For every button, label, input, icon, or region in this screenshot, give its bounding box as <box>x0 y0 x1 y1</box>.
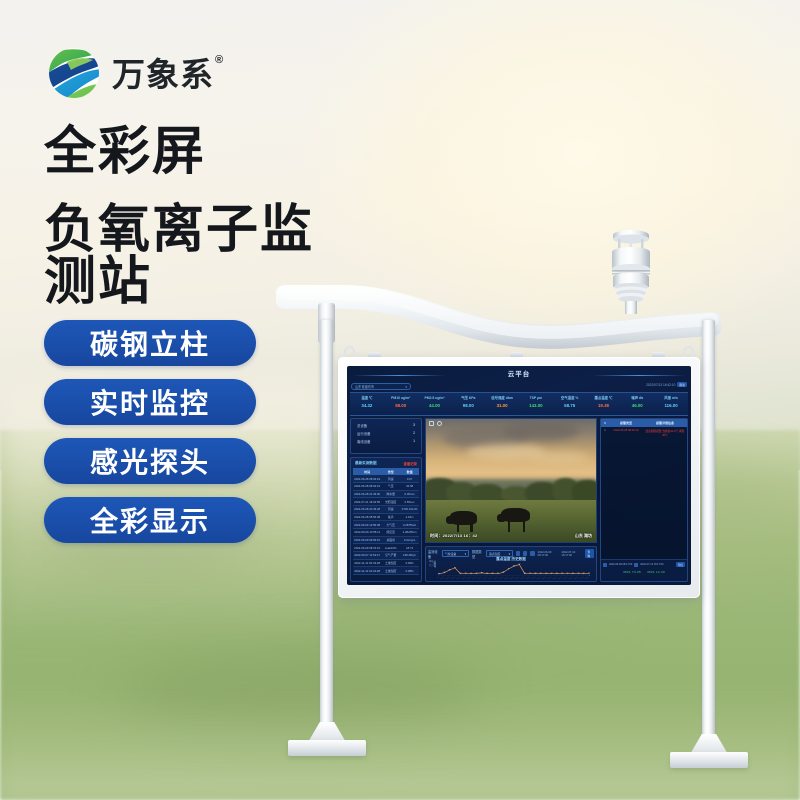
metric-7: 露点温度 ℃19.38 <box>587 393 621 415</box>
table-column-headers: 时间类型数值 <box>353 468 419 475</box>
alarm-date-from[interactable]: 2022-06-09 08:17:00 <box>609 563 632 566</box>
feature-pill-2[interactable]: 感光探头 <box>44 438 256 484</box>
metric-2: PM2.5 ug/m³44.00 <box>418 393 452 415</box>
table-cell: 2.18m <box>400 514 419 521</box>
table-cell: 能见度 <box>381 529 400 536</box>
metric-label: 信号强度 dbm <box>485 396 519 400</box>
svg-text:06-30 13:17: 06-30 13:17 <box>547 576 553 579</box>
alarm-column-headers: #报警类型报警详细信息 <box>601 419 687 427</box>
metric-1: PM10 ug/m³58.00 <box>384 393 418 415</box>
metric-label: 风速 m/s <box>654 396 688 400</box>
metric-value: 143.00 <box>519 404 553 408</box>
chart-export-icon[interactable] <box>530 551 534 556</box>
metric-label: 噪声 db <box>620 396 654 400</box>
base-plate-right <box>670 734 748 768</box>
metric-label: 露点温度 ℃ <box>587 396 621 400</box>
registered-mark: ® <box>215 54 224 66</box>
station-select-value: 山东省潍坊市 <box>355 384 374 389</box>
table-title: 最新实测数据 <box>355 461 377 466</box>
table-cell: 降水量 <box>381 491 400 498</box>
table-row[interactable]: 2022-06-09 13:55:11能见度1.28x65nm <box>353 529 419 537</box>
svg-text:06-17 16:17: 06-17 16:17 <box>477 576 483 579</box>
svg-text:06-20 19:17: 06-20 19:17 <box>493 576 499 579</box>
screen-header: 云平台 <box>347 366 691 383</box>
device-stat-0: 总设备3 <box>357 423 415 428</box>
table-cell: 2022-06-28 21:46:00 <box>353 491 381 498</box>
metric-label: PM10 ug/m³ <box>384 396 418 400</box>
table-cell: 总辐射 <box>381 537 400 544</box>
metric-9: 风速 m/s116.00 <box>654 393 688 415</box>
brand-name-text: 万象系 <box>112 56 214 93</box>
table-cell: 风速 <box>381 506 400 513</box>
alarm-row[interactable]: 12022-06-28 08:03:19温度超限报警 当前值43.2℃ 阈值40… <box>601 427 687 437</box>
chart-plot-area: 单位(℃) 01020304050607080 12.206-09 08:171… <box>428 563 594 579</box>
table-cell: 2022-06-28 20:45:28 <box>353 506 381 513</box>
stat-value: 2 <box>413 431 415 436</box>
calendar-icon <box>603 563 607 567</box>
alarm-list[interactable]: 12022-06-28 08:03:19温度超限报警 当前值43.2℃ 阈值40… <box>601 427 687 559</box>
datatype-filter-value: 露点温度 <box>489 552 500 556</box>
metric-value: 19.38 <box>587 404 621 408</box>
svg-text:06-15 14:17: 06-15 14:17 <box>466 576 472 579</box>
table-cell: 2022-06-07 11:54:47 <box>353 552 381 559</box>
feature-pill-1[interactable]: 实时监控 <box>44 379 256 425</box>
device-stat-1: 运行设备2 <box>357 431 415 436</box>
metric-value: 44.00 <box>418 404 452 408</box>
metric-label: 气压 KPa <box>451 396 485 400</box>
svg-text:06-12 11:17: 06-12 11:17 <box>450 576 456 579</box>
snapshot-icon[interactable] <box>437 421 442 426</box>
metric-value: 46.00 <box>620 404 654 408</box>
table-row[interactable]: 2022-06-28 08:03:19气压32.58 <box>353 483 419 491</box>
pole-right <box>702 320 715 744</box>
table-cell: 0.36mm <box>400 491 419 498</box>
metrics-strip: 温度 ℃34.32PM10 ug/m³58.00PM2.5 ug/m³44.00… <box>350 392 688 416</box>
table-cell: 0.97 <box>400 475 419 482</box>
table-cell: 2022-06-28 08:56:38 <box>353 514 381 521</box>
alarm-col-1: 报警类型 <box>609 419 643 427</box>
alarm-stat: 4531 74.35 <box>623 570 641 574</box>
stat-label: 离线设备 <box>357 439 371 444</box>
center-column: 时间：2022/7/13 16：42 山东 潍坊 监测设备 气象设备 ▾ 数据类… <box>425 418 597 582</box>
svg-text:06-23 22:17: 06-23 22:17 <box>509 576 515 579</box>
table-row[interactable]: 2022-11-13 02:33:28土壤温度0.09% <box>353 560 419 568</box>
video-controls[interactable] <box>429 421 442 426</box>
feature-pill-0[interactable]: 碳钢立柱 <box>44 320 256 366</box>
table-cell: 空气产量 <box>381 552 400 559</box>
device-stats-panel: 总设备3运行设备2离线设备1 <box>350 418 422 454</box>
station-select[interactable]: 山东省潍坊市 ▾ <box>351 383 411 390</box>
chart-y-axis: 单位(℃) 01020304050607080 <box>428 563 437 569</box>
table-row[interactable]: 2022-06-09 13:56:38大气压0.2875Gx² <box>353 521 419 529</box>
clock-text: 2022/07/13 16:42:10 <box>646 383 675 387</box>
metric-label: 空气湿度 % <box>553 396 587 400</box>
metric-value: 58.00 <box>384 404 418 408</box>
svg-text:13.3: 13.3 <box>588 572 591 573</box>
svg-text:06-25 08:17: 06-25 08:17 <box>520 576 526 579</box>
table-row[interactable]: 2022-06-09 09:53:15总辐射0.4mcg/L <box>353 537 419 545</box>
table-col-0: 时间 <box>353 468 381 475</box>
feature-pill-3[interactable]: 全彩显示 <box>44 497 256 543</box>
svg-text:℃: ℃ <box>589 575 591 576</box>
refresh-button[interactable]: 刷新 <box>677 382 687 387</box>
svg-text:06-21 20:17: 06-21 20:17 <box>498 576 504 579</box>
svg-text:06-28 11:17: 06-28 11:17 <box>536 576 542 579</box>
svg-text:07-05 18:17: 07-05 18:17 <box>574 576 580 579</box>
metric-8: 噪声 db46.00 <box>620 393 654 415</box>
svg-text:74.3: 74.3 <box>518 563 521 564</box>
chart-line-svg: 12.206-09 08:1719.806-10 09:1738.406-11 … <box>437 563 591 579</box>
chart-type-line-icon[interactable] <box>523 551 527 556</box>
table-row[interactable]: 2022-06-07 11:54:47空气产量168.2M/yn <box>353 552 419 560</box>
view-records-link[interactable]: 查看记录 <box>403 461 417 466</box>
table-row[interactable]: 2022-07-21 18:34:55光照强度0.55Lux <box>353 498 419 506</box>
alarm-index: 1 <box>601 429 609 437</box>
table-cell: 2022-06-28 08:03:19 <box>353 483 381 490</box>
y-tick: 80 <box>434 561 436 563</box>
stat-value: 1 <box>413 439 415 444</box>
svg-text:06-16 15:17: 06-16 15:17 <box>472 576 478 579</box>
alarm-footer: 2022-06-09 08:17:00 2022-07-13 16:17:00 … <box>601 559 687 581</box>
table-cell: 土壤温度 <box>381 560 400 567</box>
table-row[interactable]: 2022-06-28 08:56:38噪声2.18m <box>353 514 419 522</box>
svg-text:06-24 23:17: 06-24 23:17 <box>515 576 521 579</box>
svg-text:06-14 13:17: 06-14 13:17 <box>461 576 467 579</box>
table-cell: 噪声 <box>381 514 400 521</box>
metric-4: 信号强度 dbm31.00 <box>485 393 519 415</box>
metric-value: 58.75 <box>553 404 587 408</box>
table-col-2: 数值 <box>400 468 419 475</box>
device-stat-2: 离线设备1 <box>357 439 415 444</box>
chart-date-to[interactable]: 2022-07-13 16:17:00 <box>561 551 582 557</box>
alarm-col-2: 报警详细信息 <box>643 419 687 427</box>
metric-0: 温度 ℃34.32 <box>350 393 384 415</box>
table-cell: 168.2M/yn <box>400 552 419 559</box>
svg-text:07-04 17:17: 07-04 17:17 <box>568 576 574 579</box>
realtime-data-panel: 最新实测数据 查看记录 时间类型数值 2022-06-28 08:03:19风速… <box>350 457 422 582</box>
table-cell: 2022-06-09 13:55:11 <box>353 529 381 536</box>
alarm-stat-numbers: 4531 74.354531 12.20 <box>603 570 685 574</box>
alarm-stat: 4531 12.20 <box>647 570 665 574</box>
table-header-row: 最新实测数据 查看记录 <box>353 460 419 468</box>
alarm-panel: #报警类型报警详细信息 12022-06-28 08:03:19温度超限报警 当… <box>600 418 688 582</box>
screen-title: 云平台 <box>347 368 691 378</box>
chart-title: 露点温度 历史数据 <box>426 557 596 562</box>
left-column: 总设备3运行设备2离线设备1 最新实测数据 查看记录 时间类型数值 2022-0… <box>350 418 422 582</box>
chart-type-bar-icon[interactable] <box>516 551 520 556</box>
svg-text:06-29 12:17: 06-29 12:17 <box>541 576 547 579</box>
table-cell: 风速 <box>381 475 400 482</box>
svg-text:06-22 21:17: 06-22 21:17 <box>504 576 510 579</box>
camera-feed[interactable]: 时间：2022/7/13 16：42 山东 潍坊 <box>425 418 597 543</box>
camera-scene <box>426 419 596 542</box>
metric-value: 98.00 <box>451 404 485 408</box>
svg-text:07-03 16:17: 07-03 16:17 <box>563 576 569 579</box>
metric-value: 31.00 <box>485 404 519 408</box>
svg-text:06-18 17:17: 06-18 17:17 <box>482 576 488 579</box>
led-display[interactable]: 云平台 山东省潍坊市 ▾ 2022/07/13 16:42:10 刷新 温度 ℃… <box>347 366 691 585</box>
metric-label: 温度 ℃ <box>350 396 384 400</box>
table-cell: 气压 <box>381 483 400 490</box>
chevron-down-icon: ▾ <box>509 552 510 556</box>
chevron-down-icon: ▾ <box>405 385 407 389</box>
stat-label: 总设备 <box>357 423 367 428</box>
table-row[interactable]: 2022-06-28 20:45:28风速0730.16x1% <box>353 506 419 514</box>
stat-label: 运行设备 <box>357 431 371 436</box>
table-row[interactable]: 2022-11-13 01:24:28土壤湿度0.08% <box>353 567 419 575</box>
device-filter-value: 气象设备 <box>445 552 456 556</box>
brand-logo: 万象系® <box>45 44 223 102</box>
svg-text:06-13 12:17: 06-13 12:17 <box>456 576 462 579</box>
datatype-filter-select[interactable]: 露点温度 ▾ <box>486 550 513 557</box>
table-cell: 土壤湿度 <box>381 567 400 574</box>
led-screen-housing: 云平台 山东省潍坊市 ▾ 2022/07/13 16:42:10 刷新 温度 ℃… <box>338 357 700 598</box>
table-body: 2022-06-28 08:03:19风速0.972022-06-28 08:0… <box>353 475 419 575</box>
table-cell: 1.28x65nm <box>400 529 419 536</box>
table-cell: 0.4mcg/L <box>400 537 419 544</box>
stat-value: 3 <box>413 423 415 428</box>
metric-5: TSP μm143.00 <box>519 393 553 415</box>
history-chart-panel: 监测设备 气象设备 ▾ 数据类型 露点温度 ▾ <box>425 546 597 582</box>
svg-text:06-10 09:17: 06-10 09:17 <box>439 576 445 579</box>
table-row[interactable]: 2022-06-28 21:46:00降水量0.36mm <box>353 491 419 499</box>
svg-text:07-06 19:17: 07-06 19:17 <box>579 576 585 579</box>
table-cell: 0.09% <box>400 560 419 567</box>
alarm-export-button[interactable]: 导出 <box>676 562 685 567</box>
table-col-1: 类型 <box>381 468 400 475</box>
table-row[interactable]: 2022-06-09 08:15:15solar10%18.73 <box>353 544 419 552</box>
marketing-text-block: 万象系® 全彩屏 负氧离子监测站 碳钢立柱实时监控感光探头全彩显示 <box>0 0 350 600</box>
table-cell: 2022-06-09 08:15:15 <box>353 544 381 551</box>
svg-text:07-01 14:17: 07-01 14:17 <box>552 576 558 579</box>
headline-line-2: 负氧离子监测站 <box>44 204 350 308</box>
svg-text:06-09 08:17: 06-09 08:17 <box>437 576 440 579</box>
calendar-icon <box>634 563 638 567</box>
table-cell: solar10% <box>381 544 400 551</box>
svg-text:06-11 10:17: 06-11 10:17 <box>445 576 451 579</box>
table-cell: 光照强度 <box>381 498 400 505</box>
table-row[interactable]: 2022-06-28 08:03:19风速0.97 <box>353 475 419 483</box>
table-cell: 0.2875Gx² <box>400 521 419 528</box>
table-cell: 0730.16x1% <box>400 506 419 513</box>
video-timestamp: 时间：2022/7/13 16：42 <box>430 533 477 539</box>
svg-text:07-02 15:17: 07-02 15:17 <box>557 576 563 579</box>
table-cell: 2022-06-09 13:56:38 <box>353 521 381 528</box>
svg-text:06-19 18:17: 06-19 18:17 <box>488 576 494 579</box>
screen-clock: 2022/07/13 16:42:10 刷新 <box>646 382 687 387</box>
table-cell: 32.58 <box>400 483 419 490</box>
realtime-table[interactable]: 时间类型数值 2022-06-28 08:03:19风速0.972022-06-… <box>353 468 419 579</box>
metric-value: 116.00 <box>654 404 688 408</box>
table-cell: 2022-06-28 08:03:19 <box>353 475 381 482</box>
fullscreen-icon[interactable] <box>429 421 434 426</box>
base-plate-left <box>288 722 366 756</box>
svg-text:06-27 10:17: 06-27 10:17 <box>531 576 537 579</box>
table-cell: 2022-11-13 01:24:28 <box>353 567 381 574</box>
table-cell: 0.55Lux <box>400 498 419 505</box>
metric-6: 空气湿度 %58.75 <box>553 393 587 415</box>
table-cell: 18.73 <box>400 544 419 551</box>
svg-text:07-07 20:17: 07-07 20:17 <box>584 576 590 579</box>
globe-swirl-logo-icon <box>45 44 103 102</box>
svg-text:52.1: 52.1 <box>454 567 457 568</box>
chevron-down-icon: ▾ <box>465 552 466 556</box>
video-location: 山东 潍坊 <box>575 533 592 539</box>
table-cell: 0.08% <box>400 567 419 574</box>
headline-line-1: 全彩屏 <box>44 126 206 178</box>
metric-label: PM2.5 ug/m³ <box>418 396 452 400</box>
screen-body: 总设备3运行设备2离线设备1 最新实测数据 查看记录 时间类型数值 2022-0… <box>350 418 688 582</box>
device-filter-select[interactable]: 气象设备 ▾ <box>442 550 469 557</box>
metric-3: 气压 KPa98.00 <box>451 393 485 415</box>
chart-date-from[interactable]: 2022-06-09 08:17:00 <box>538 551 559 557</box>
alarm-date-to[interactable]: 2022-07-13 16:17:00 <box>640 563 663 566</box>
table-cell: 2022-07-21 18:34:55 <box>353 498 381 505</box>
table-cell: 大气压 <box>381 521 400 528</box>
table-cell: 2022-11-13 02:33:28 <box>353 560 381 567</box>
metric-value: 34.32 <box>350 404 384 408</box>
table-cell: 2022-06-09 09:53:15 <box>353 537 381 544</box>
feature-pill-list: 碳钢立柱实时监控感光探头全彩显示 <box>44 320 256 556</box>
brand-name: 万象系® <box>112 58 223 91</box>
svg-text:06-26 09:17: 06-26 09:17 <box>525 576 531 579</box>
alarm-detail: 温度超限报警 当前值43.2℃ 阈值40℃ <box>643 429 687 437</box>
alarm-col-0: # <box>601 419 609 427</box>
metric-label: TSP μm <box>519 396 553 400</box>
alarm-type: 2022-06-28 08:03:19 <box>609 429 643 437</box>
